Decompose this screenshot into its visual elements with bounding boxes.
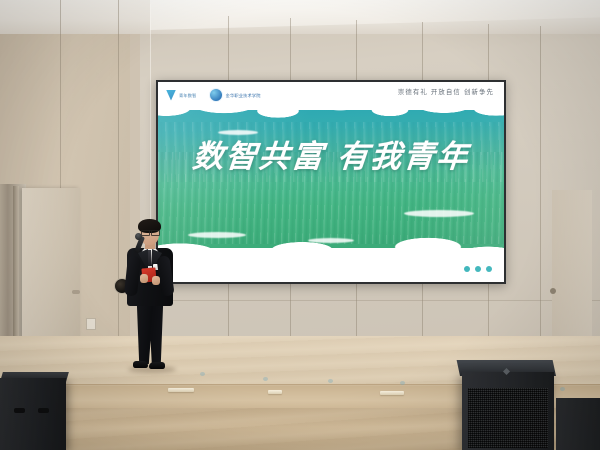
triangle-mark-icon: [166, 90, 176, 101]
speaker-port-icon: [14, 408, 25, 413]
floor-speck: [263, 377, 268, 381]
speaker-right-grille: [468, 388, 548, 448]
wall-seam: [150, 300, 600, 301]
speaker-port-icon: [38, 408, 49, 413]
organization-logo-primary-label: 青年数智: [179, 93, 197, 98]
organization-logo-secondary: 金华职业技术学院: [209, 88, 261, 102]
speaker-far-right: [556, 398, 600, 450]
floor-speck: [200, 372, 205, 376]
brush-streak: [404, 210, 474, 217]
presenter-hand-left: [140, 274, 148, 283]
organization-logo-primary: 青年数智: [166, 90, 197, 101]
led-screen[interactable]: 青年数智 金华职业技术学院 崇德有礼 开放自信 创新争先 数智共富 有我青年: [158, 82, 504, 282]
photo-scene: 青年数智 金华职业技术学院 崇德有礼 开放自信 创新争先 数智共富 有我青年: [0, 0, 600, 450]
presenter: [118, 222, 180, 372]
dot-icon-1: [464, 266, 470, 272]
stage-marker: [268, 390, 282, 394]
dot-icon-2: [475, 266, 481, 272]
eyeglasses-bridge-icon: [141, 230, 158, 235]
brush-streak: [308, 238, 354, 243]
wall-socket: [86, 318, 96, 330]
slide-band-top-edge: [158, 100, 504, 126]
presenter-hand-right: [152, 276, 160, 285]
speaker-left: [0, 378, 66, 450]
stage-marker: [168, 388, 194, 392]
brush-streak: [188, 232, 246, 238]
presenter-shoe-right: [149, 362, 165, 369]
globe-mark-icon: [209, 88, 223, 102]
right-door-handle-icon[interactable]: [550, 288, 556, 294]
led-screen-frame: 青年数智 金华职业技术学院 崇德有礼 开放自信 创新争先 数智共富 有我青年: [156, 80, 506, 284]
left-door-handle-icon[interactable]: [72, 290, 80, 294]
slide-logo-row: 青年数智 金华职业技术学院: [166, 88, 261, 102]
organization-logo-secondary-label: 金华职业技术学院: [226, 93, 261, 98]
presenter-legs: [135, 302, 165, 364]
floor-speck: [560, 387, 565, 391]
presenter-shoe-left: [133, 361, 148, 368]
wall-seam: [540, 26, 541, 346]
slide-slogan: 崇德有礼 开放自信 创新争先: [398, 88, 494, 96]
slide-dot-indicators[interactable]: [464, 266, 492, 272]
stage-marker: [380, 391, 404, 395]
brush-streak: [218, 130, 258, 135]
floor-speck: [328, 379, 333, 383]
dot-icon-3: [486, 266, 492, 272]
floor-speck: [400, 381, 405, 385]
left-door[interactable]: [22, 188, 80, 360]
slide-title: 数智共富 有我青年: [158, 140, 504, 174]
